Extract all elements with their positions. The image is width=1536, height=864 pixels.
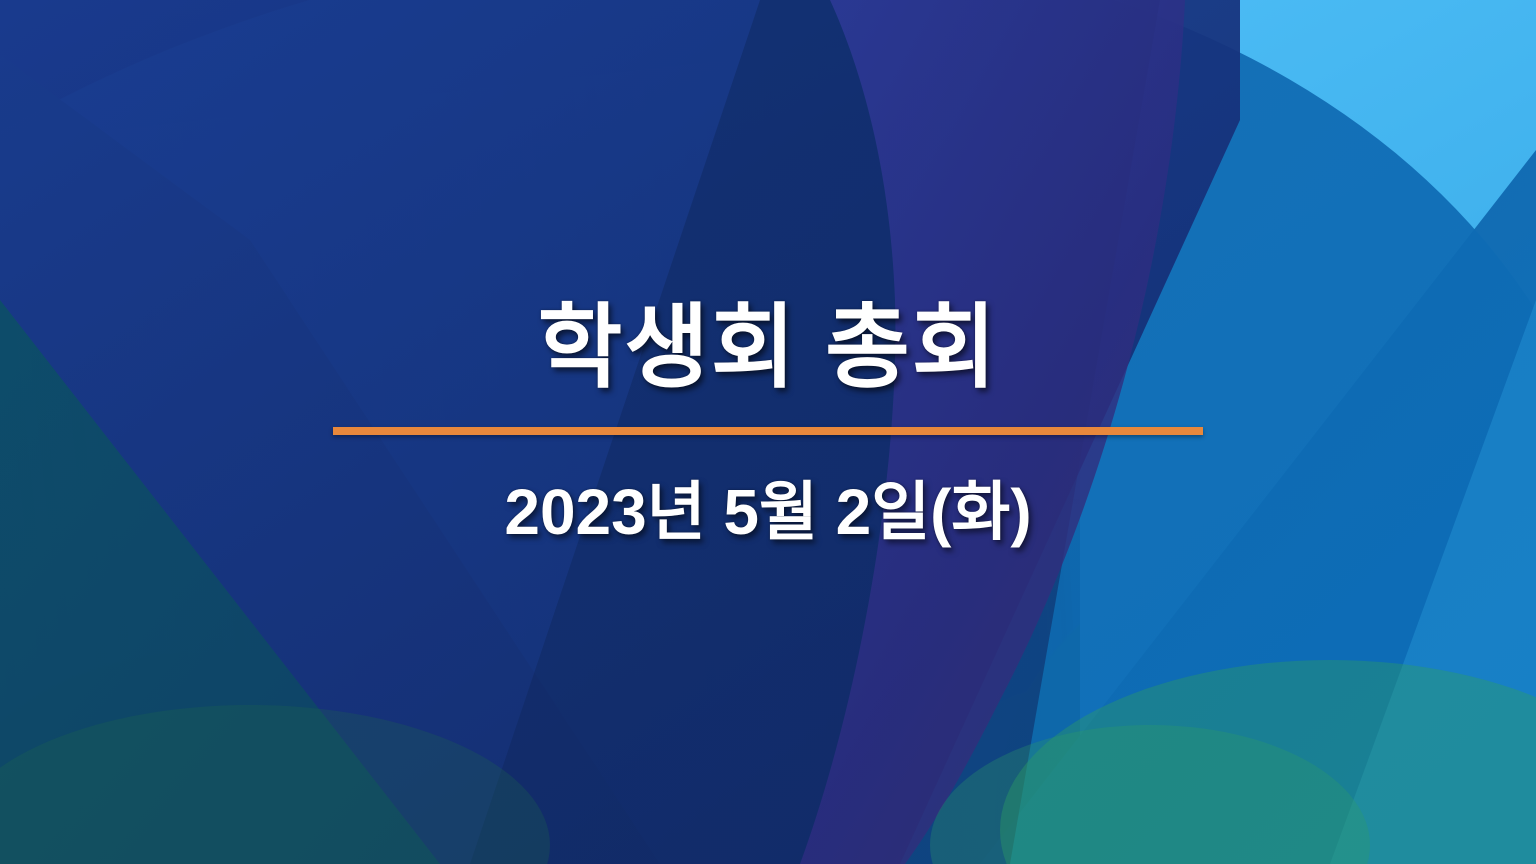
slide-title: 학생회 총회 (0, 300, 1536, 397)
slide-subtitle-date: 2023년 5월 2일(화) (0, 461, 1536, 553)
presentation-slide: WORLD MISSION UNIVERSITY (0, 0, 1536, 864)
title-divider (333, 427, 1203, 435)
title-block: 학생회 총회 2023년 5월 2일(화) (0, 300, 1536, 553)
